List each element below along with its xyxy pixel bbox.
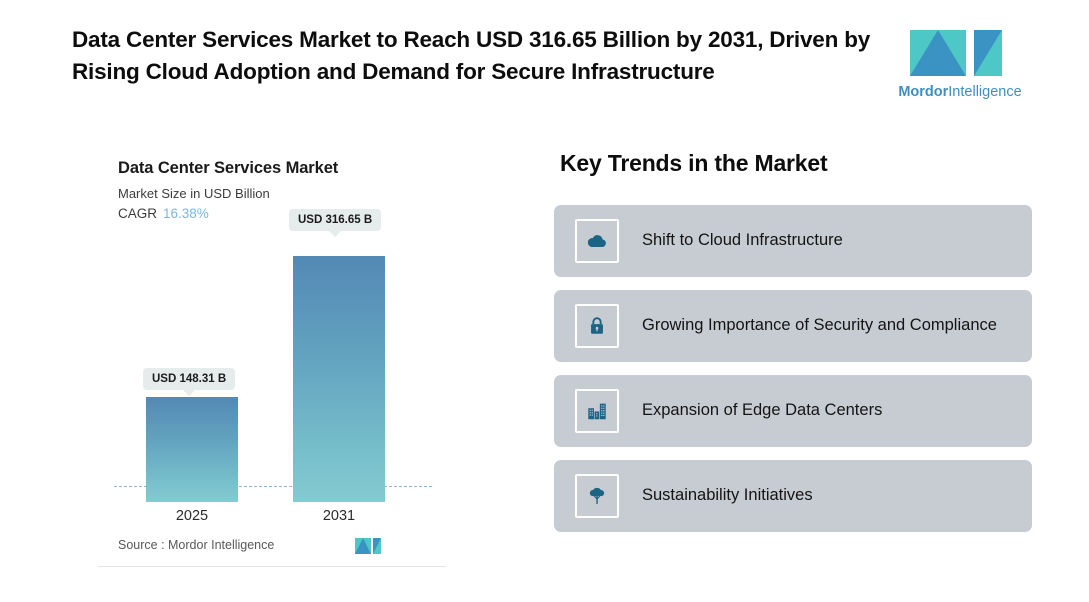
chart-plot-area bbox=[92, 232, 452, 502]
mordor-logo-small-icon bbox=[354, 536, 382, 556]
panel-divider bbox=[98, 566, 446, 567]
bar-2025 bbox=[146, 397, 238, 502]
trend-card-edge[interactable]: Expansion of Edge Data Centers bbox=[554, 375, 1032, 447]
brand-wordmark: MordorIntelligence bbox=[890, 84, 1030, 100]
mordor-logo-icon bbox=[904, 26, 1012, 80]
key-trends-panel: Key Trends in the Market Shift to Cloud … bbox=[554, 150, 1034, 545]
bar-value-label-2031: USD 316.65 B bbox=[289, 209, 381, 231]
trend-card-security[interactable]: Growing Importance of Security and Compl… bbox=[554, 290, 1032, 362]
chart-title: Data Center Services Market bbox=[118, 159, 338, 178]
buildings-icon bbox=[575, 389, 619, 433]
chart-source: Source : Mordor Intelligence bbox=[118, 538, 274, 552]
brand-name-primary: Mordor bbox=[898, 84, 948, 100]
tree-icon bbox=[575, 474, 619, 518]
bar-value-label-2025: USD 148.31 B bbox=[143, 368, 235, 390]
chart-cagr: CAGR16.38% bbox=[118, 206, 209, 221]
lock-icon bbox=[575, 304, 619, 348]
cloud-icon bbox=[575, 219, 619, 263]
trend-label: Sustainability Initiatives bbox=[642, 484, 813, 508]
brand-name-secondary: Intelligence bbox=[948, 84, 1021, 100]
market-size-chart: Data Center Services Market Market Size … bbox=[92, 146, 452, 571]
trend-label: Shift to Cloud Infrastructure bbox=[642, 229, 843, 253]
cagr-label: CAGR bbox=[118, 206, 157, 221]
x-axis-tick-2025: 2025 bbox=[146, 508, 238, 524]
chart-subtitle: Market Size in USD Billion bbox=[118, 186, 270, 201]
page-header: Data Center Services Market to Reach USD… bbox=[0, 0, 1089, 130]
trend-label: Expansion of Edge Data Centers bbox=[642, 399, 882, 423]
trend-card-sustainability[interactable]: Sustainability Initiatives bbox=[554, 460, 1032, 532]
trend-label: Growing Importance of Security and Compl… bbox=[642, 314, 997, 338]
x-axis-tick-2031: 2031 bbox=[293, 508, 385, 524]
bar-2031 bbox=[293, 256, 385, 502]
brand-logo: MordorIntelligence bbox=[890, 24, 1030, 114]
page-title: Data Center Services Market to Reach USD… bbox=[72, 24, 872, 88]
trends-heading: Key Trends in the Market bbox=[560, 150, 1034, 177]
cagr-value: 16.38% bbox=[163, 206, 209, 221]
trend-card-cloud[interactable]: Shift to Cloud Infrastructure bbox=[554, 205, 1032, 277]
